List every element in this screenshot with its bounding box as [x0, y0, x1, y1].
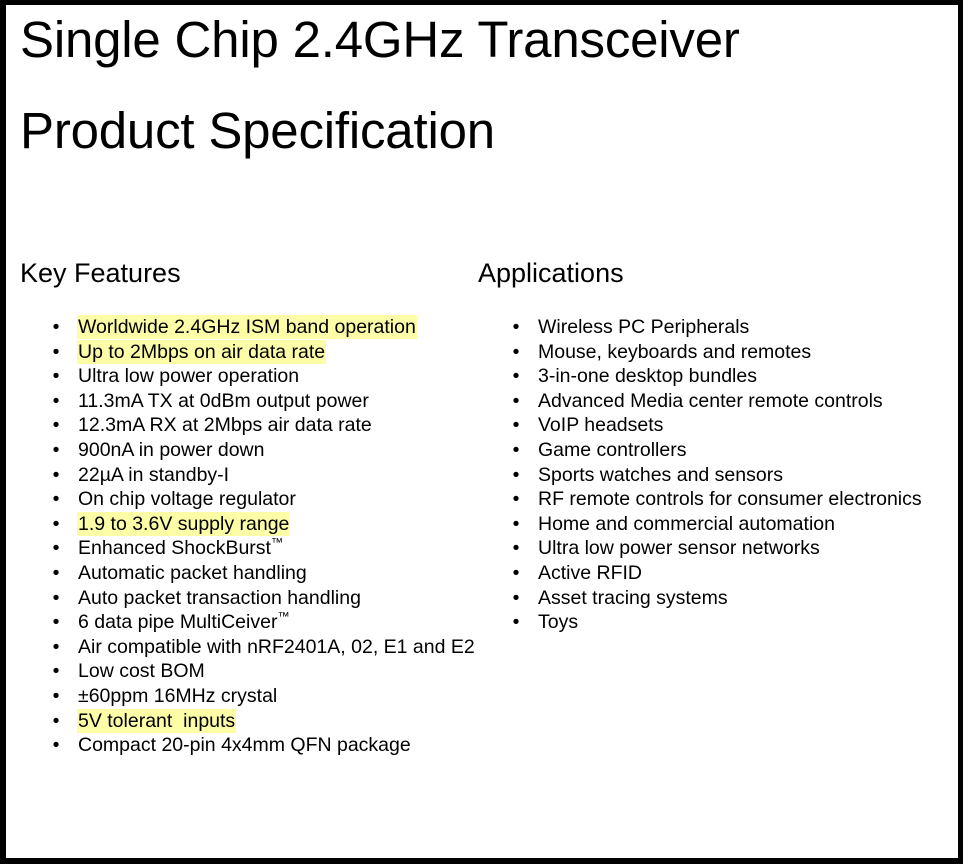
- bullet-icon: •: [510, 389, 522, 414]
- bullet-icon: •: [50, 733, 62, 758]
- list-item: •Auto packet transaction handling: [18, 586, 478, 611]
- bullet-icon: •: [510, 340, 522, 365]
- bullet-icon: •: [510, 561, 522, 586]
- bullet-icon: •: [50, 512, 62, 537]
- list-item-label: ±60ppm 16MHz crystal: [78, 685, 277, 707]
- bullet-icon: •: [510, 487, 522, 512]
- list-item: •Automatic packet handling: [18, 561, 478, 586]
- bullet-icon: •: [510, 536, 522, 561]
- bullet-icon: •: [510, 315, 522, 340]
- list-item-label: 22µA in standby-I: [78, 464, 229, 486]
- list-item-label: 5V tolerant inputs: [78, 710, 235, 732]
- list-item-label: Home and commercial automation: [538, 513, 835, 535]
- key-features-heading: Key Features: [20, 257, 478, 289]
- list-item-label: Ultra low power operation: [78, 365, 299, 387]
- list-item: •Compact 20-pin 4x4mm QFN package: [18, 733, 478, 758]
- bullet-icon: •: [510, 463, 522, 488]
- key-features-column: Key Features •Worldwide 2.4GHz ISM band …: [18, 257, 478, 758]
- list-item-label: Ultra low power sensor networks: [538, 537, 820, 559]
- key-features-list: •Worldwide 2.4GHz ISM band operation•Up …: [18, 315, 478, 758]
- list-item: •Mouse, keyboards and remotes: [476, 340, 956, 365]
- list-item: •Low cost BOM: [18, 659, 478, 684]
- slide-frame: Single Chip 2.4GHz Transceiver Product S…: [0, 0, 963, 864]
- bullet-icon: •: [50, 487, 62, 512]
- applications-heading: Applications: [478, 257, 956, 289]
- list-item: •Game controllers: [476, 438, 956, 463]
- list-item: •12.3mA RX at 2Mbps air data rate: [18, 413, 478, 438]
- list-item-label: RF remote controls for consumer electron…: [538, 488, 922, 510]
- list-item: •Up to 2Mbps on air data rate: [18, 340, 478, 365]
- list-item-label: Enhanced ShockBurst™: [78, 537, 283, 559]
- bullet-icon: •: [510, 610, 522, 635]
- bullet-icon: •: [50, 463, 62, 488]
- list-item-label: 1.9 to 3.6V supply range: [78, 513, 289, 535]
- bullet-icon: •: [510, 413, 522, 438]
- list-item-label: Advanced Media center remote controls: [538, 390, 883, 412]
- list-item-label: On chip voltage regulator: [78, 488, 296, 510]
- list-item: •Enhanced ShockBurst™: [18, 536, 478, 561]
- list-item-label: Compact 20-pin 4x4mm QFN package: [78, 734, 411, 756]
- bullet-icon: •: [50, 561, 62, 586]
- page-title-line-1: Single Chip 2.4GHz Transceiver: [20, 9, 920, 71]
- list-item: •Sports watches and sensors: [476, 463, 956, 488]
- applications-list: •Wireless PC Peripherals•Mouse, keyboard…: [476, 315, 956, 635]
- trademark-icon: ™: [277, 610, 289, 624]
- list-item-label: Mouse, keyboards and remotes: [538, 341, 811, 363]
- list-item: •11.3mA TX at 0dBm output power: [18, 389, 478, 414]
- list-item: •±60ppm 16MHz crystal: [18, 684, 478, 709]
- list-item: •Worldwide 2.4GHz ISM band operation: [18, 315, 478, 340]
- bullet-icon: •: [50, 659, 62, 684]
- bullet-icon: •: [50, 413, 62, 438]
- list-item-label: VoIP headsets: [538, 414, 663, 436]
- list-item: •3-in-one desktop bundles: [476, 364, 956, 389]
- list-item: •5V tolerant inputs: [18, 709, 478, 734]
- bullet-icon: •: [50, 364, 62, 389]
- list-item-label: Asset tracing systems: [538, 587, 728, 609]
- list-item-label: Active RFID: [538, 562, 642, 584]
- list-item-label: Toys: [538, 611, 578, 633]
- list-item: •Active RFID: [476, 561, 956, 586]
- list-item: •22µA in standby-I: [18, 463, 478, 488]
- list-item-label: Auto packet transaction handling: [78, 587, 361, 609]
- list-item-label: Worldwide 2.4GHz ISM band operation: [78, 316, 416, 338]
- list-item-label: 12.3mA RX at 2Mbps air data rate: [78, 414, 372, 436]
- list-item: •Air compatible with nRF2401A, 02, E1 an…: [18, 635, 478, 660]
- list-item: •Asset tracing systems: [476, 586, 956, 611]
- bullet-icon: •: [50, 438, 62, 463]
- bullet-icon: •: [50, 610, 62, 635]
- bullet-icon: •: [510, 364, 522, 389]
- bullet-icon: •: [50, 389, 62, 414]
- bullet-icon: •: [50, 684, 62, 709]
- list-item-label: 6 data pipe MultiCeiver™: [78, 611, 290, 633]
- bullet-icon: •: [50, 709, 62, 734]
- bullet-icon: •: [50, 635, 62, 660]
- bullet-icon: •: [50, 586, 62, 611]
- bullet-icon: •: [510, 512, 522, 537]
- list-item: •Toys: [476, 610, 956, 635]
- list-item-label: Automatic packet handling: [78, 562, 307, 584]
- bullet-icon: •: [50, 315, 62, 340]
- bullet-icon: •: [50, 340, 62, 365]
- list-item: •Ultra low power operation: [18, 364, 478, 389]
- list-item: •900nA in power down: [18, 438, 478, 463]
- list-item-label: 11.3mA TX at 0dBm output power: [78, 390, 369, 412]
- page-title-line-2: Product Specification: [20, 100, 920, 162]
- list-item: •Home and commercial automation: [476, 512, 956, 537]
- list-item-label: Air compatible with nRF2401A, 02, E1 and…: [78, 636, 475, 658]
- list-item: •Advanced Media center remote controls: [476, 389, 956, 414]
- applications-column: Applications •Wireless PC Peripherals•Mo…: [476, 257, 956, 635]
- list-item: •On chip voltage regulator: [18, 487, 478, 512]
- list-item: •RF remote controls for consumer electro…: [476, 487, 956, 512]
- bullet-icon: •: [50, 536, 62, 561]
- list-item-label: 900nA in power down: [78, 439, 264, 461]
- list-item: •6 data pipe MultiCeiver™: [18, 610, 478, 635]
- trademark-icon: ™: [271, 536, 283, 550]
- list-item-label: 3-in-one desktop bundles: [538, 365, 757, 387]
- list-item: •Ultra low power sensor networks: [476, 536, 956, 561]
- bullet-icon: •: [510, 586, 522, 611]
- list-item: •VoIP headsets: [476, 413, 956, 438]
- list-item-label: Low cost BOM: [78, 660, 205, 682]
- list-item-label: Game controllers: [538, 439, 686, 461]
- list-item: •Wireless PC Peripherals: [476, 315, 956, 340]
- bullet-icon: •: [510, 438, 522, 463]
- list-item-label: Sports watches and sensors: [538, 464, 783, 486]
- list-item-label: Wireless PC Peripherals: [538, 316, 749, 338]
- title-block: Single Chip 2.4GHz Transceiver Product S…: [20, 9, 920, 162]
- list-item: •1.9 to 3.6V supply range: [18, 512, 478, 537]
- list-item-label: Up to 2Mbps on air data rate: [78, 341, 325, 363]
